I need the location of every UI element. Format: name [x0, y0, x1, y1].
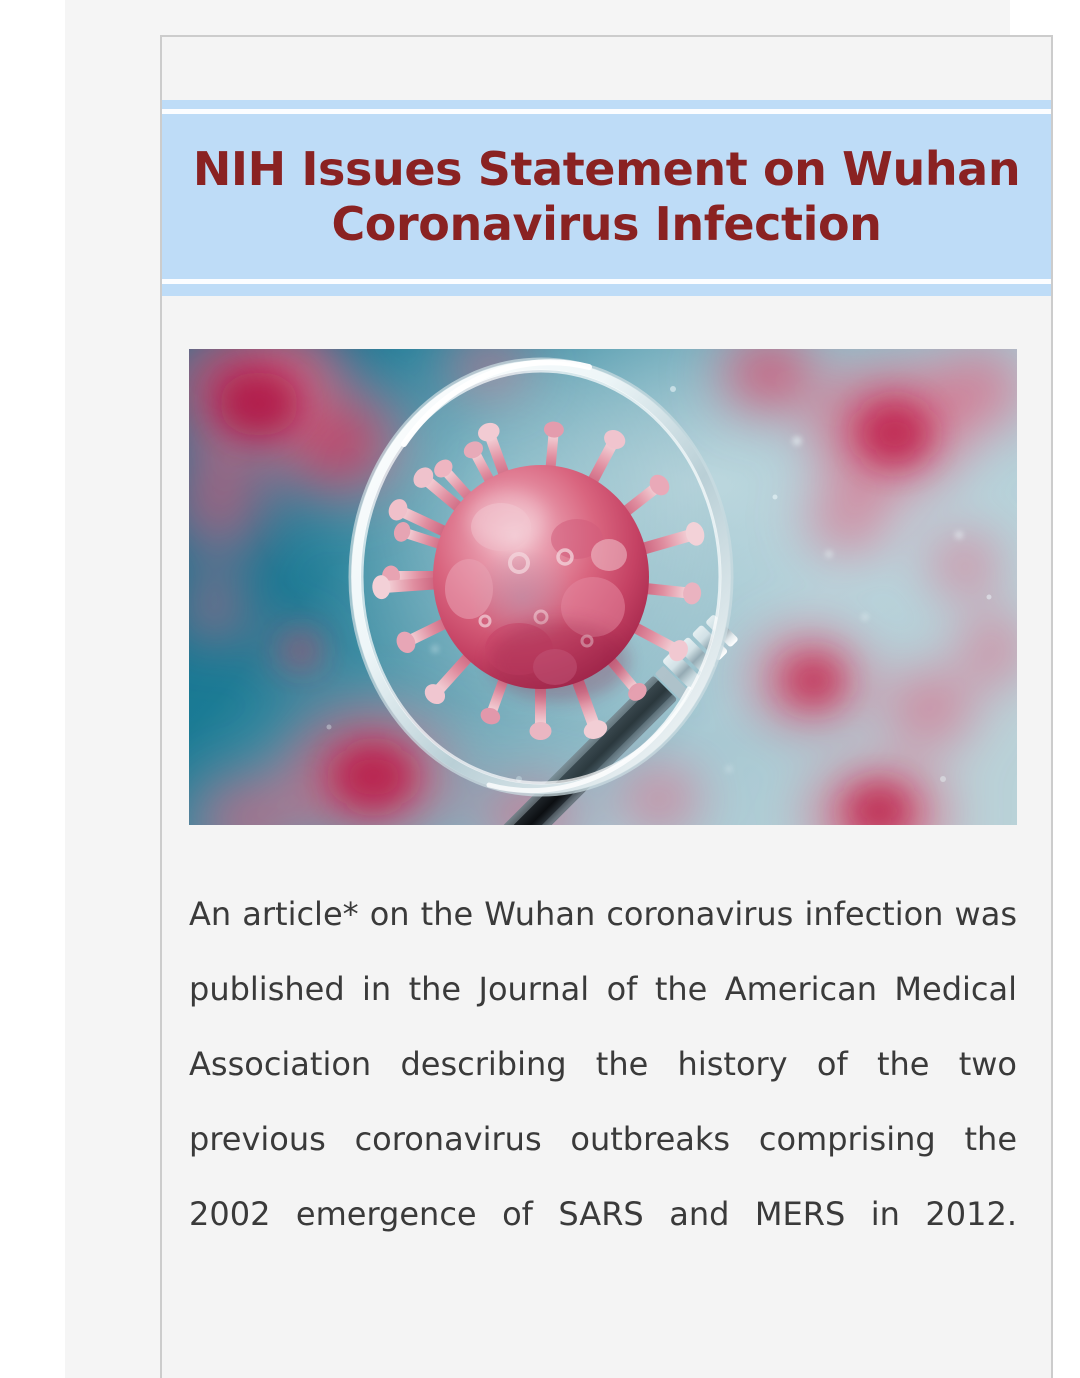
title-accent-bar-top — [162, 100, 1051, 109]
magnifier-lens — [350, 359, 732, 795]
article-body: An article* on the Wuhan coronavirus inf… — [189, 877, 1017, 1327]
title-accent-bar-bottom — [162, 284, 1051, 296]
article-paragraph: An article* on the Wuhan coronavirus inf… — [189, 877, 1017, 1327]
card-top-spacer — [162, 37, 1051, 100]
hero-image — [189, 349, 1017, 825]
page-title: NIH Issues Statement on Wuhan Coronaviru… — [162, 142, 1051, 251]
article-title-block: NIH Issues Statement on Wuhan Coronaviru… — [162, 114, 1051, 279]
article-card: NIH Issues Statement on Wuhan Coronaviru… — [160, 35, 1053, 1378]
coronavirus-magnifier-illustration — [189, 349, 1017, 825]
page-canvas: NIH Issues Statement on Wuhan Coronaviru… — [0, 0, 1080, 1378]
page-sheet: NIH Issues Statement on Wuhan Coronaviru… — [65, 0, 1010, 1378]
